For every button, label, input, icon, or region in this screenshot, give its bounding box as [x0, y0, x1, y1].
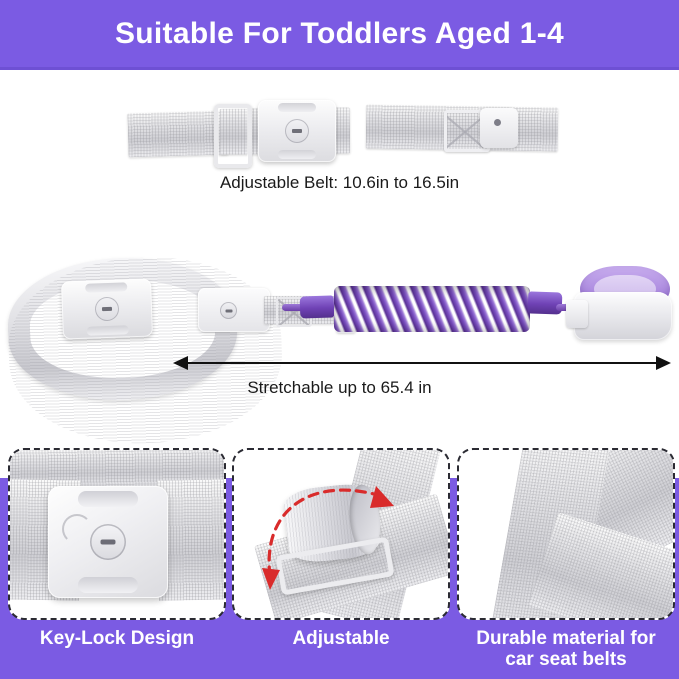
arrow-head-right — [656, 356, 671, 370]
belt-tail-clip-icon — [480, 108, 518, 148]
feature-durable-material: Durable material for car seat belts — [457, 448, 675, 671]
page-title: Suitable For Toddlers Aged 1-4 — [115, 17, 564, 51]
side-release-buckle-icon — [258, 100, 336, 162]
keyhole-icon — [90, 524, 126, 560]
slider-adjuster-icon — [214, 104, 252, 168]
cuff-clasp-icon — [566, 300, 588, 328]
coiled-stretch-cord-icon — [334, 286, 530, 332]
padded-wrist-cuff-icon — [572, 266, 672, 344]
adjustable-belt-section: Adjustable Belt: 10.6in to 16.5in — [0, 78, 679, 193]
feature-image-panel — [8, 448, 226, 620]
coil-end-right-icon — [528, 291, 563, 314]
keyhole-icon — [285, 119, 309, 143]
double-headed-arrow-icon — [173, 356, 671, 370]
key-lock-buckle-icon — [48, 486, 168, 598]
coil-end-left-icon — [300, 295, 335, 318]
feature-panels: Key-Lock Design Adjustable Durable mater… — [0, 448, 679, 679]
red-curved-arrow-icon — [234, 450, 450, 620]
adjustable-belt-caption: Adjustable Belt: 10.6in to 16.5in — [0, 173, 679, 193]
feature-image-panel — [232, 448, 450, 620]
loop-belt-buckle-icon — [61, 278, 153, 339]
feature-label-durable-line2: car seat belts — [505, 649, 626, 670]
stretch-length-caption: Stretchable up to 65.4 in — [0, 378, 679, 398]
feature-label-durable: Durable material for car seat belts — [457, 628, 675, 671]
buckle-arc-detail — [62, 514, 92, 544]
feature-adjustable: Adjustable — [232, 448, 450, 649]
header-banner: Suitable For Toddlers Aged 1-4 — [0, 0, 679, 70]
connector-keyhole-icon — [220, 302, 237, 319]
feature-label-durable-line1: Durable material for — [476, 628, 656, 649]
feature-label-adjustable: Adjustable — [232, 628, 450, 649]
adjustable-belt-illustration — [128, 104, 556, 160]
arrow-line — [186, 362, 658, 364]
feature-label-key-lock: Key-Lock Design — [8, 628, 226, 649]
connector-buckle-icon — [198, 288, 270, 332]
feature-image-panel — [457, 448, 675, 620]
cuff-band — [574, 292, 672, 340]
feature-key-lock: Key-Lock Design — [8, 448, 226, 649]
loop-keyhole-icon — [95, 297, 120, 322]
